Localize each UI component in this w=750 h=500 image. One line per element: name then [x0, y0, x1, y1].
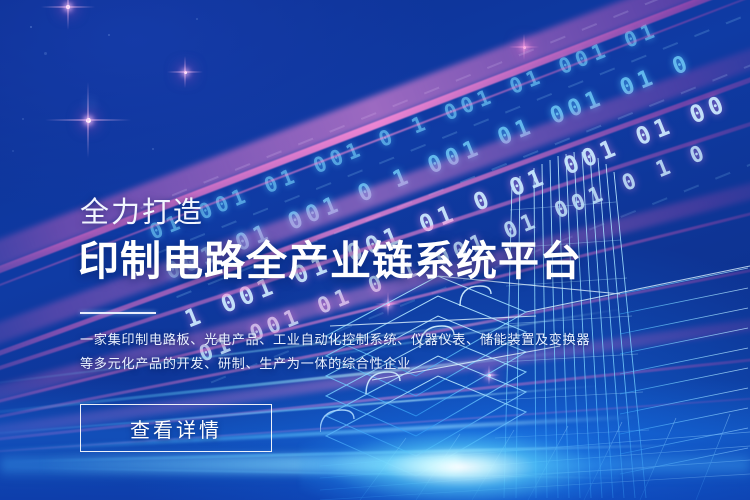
- view-details-button[interactable]: 查看详情: [80, 404, 272, 452]
- dust-mote: [12, 150, 14, 152]
- hero-eyebrow: 全力打造: [80, 196, 204, 230]
- hero-subtitle: 一家集印制电路板、光电产品、工业自动化控制系统、仪器仪表、储能装置及变换器 等多…: [80, 328, 580, 375]
- dust-mote: [22, 118, 24, 120]
- dust-mote: [30, 26, 32, 28]
- hero-content: 全力打造 印制电路全产业链系统平台 一家集印制电路板、光电产品、工业自动化控制系…: [80, 0, 600, 500]
- hero-subtitle-line-1: 一家集印制电路板、光电产品、工业自动化控制系统、仪器仪表、储能装置及变换器: [80, 328, 580, 352]
- dust-mote: [44, 52, 47, 55]
- hero-divider: [80, 312, 156, 314]
- hero-headline: 印制电路全产业链系统平台: [78, 236, 582, 286]
- tower-c: [620, 266, 748, 478]
- hero-banner: 01 001 01 001 0 1 001 01 001 01 001 01 0…: [0, 0, 750, 500]
- hero-subtitle-line-2: 等多元化产品的开发、研制、生产为一体的综合性企业: [80, 352, 580, 376]
- star-core: [66, 5, 70, 9]
- star-ray-vertical: [68, 0, 69, 30]
